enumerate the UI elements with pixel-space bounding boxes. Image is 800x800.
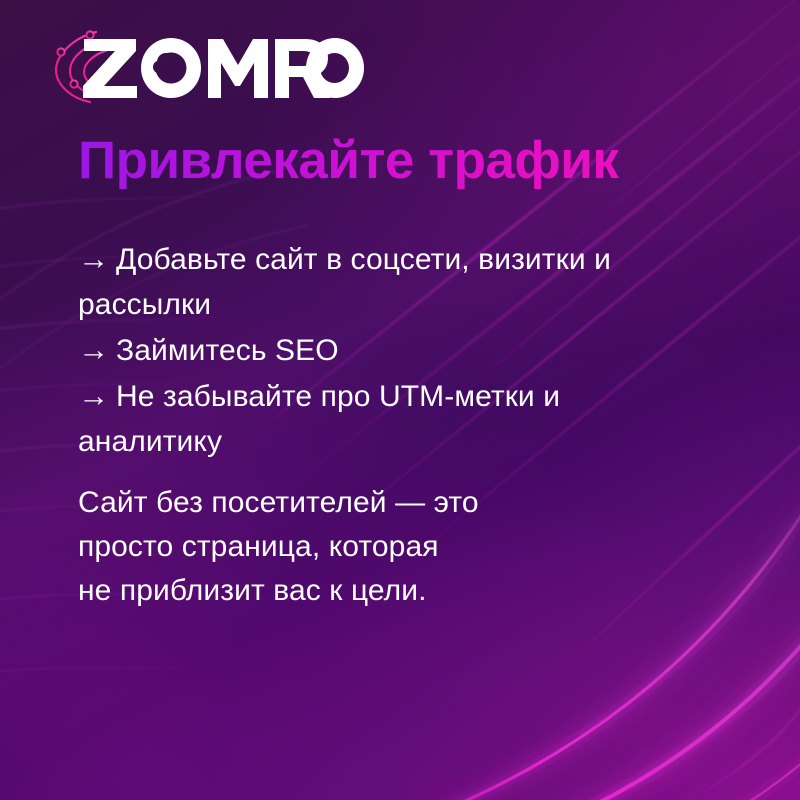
tips-list: →Добавьте сайт в соцсети, визитки и расс…: [78, 236, 698, 464]
list-item-label: Займитесь SEO: [116, 334, 339, 367]
promo-card: Привлекайте трафик →Добавьте сайт в соцс…: [0, 0, 800, 800]
closing-line: Сайт без посетителей — это: [78, 481, 698, 525]
list-item: →Не забывайте про UTM-метки и аналитику: [78, 373, 698, 464]
list-item: →Добавьте сайт в соцсети, визитки и расс…: [78, 236, 698, 327]
list-item-label: Добавьте сайт в соцсети, визитки и рассы…: [78, 243, 611, 321]
arrow-right-icon: →: [78, 236, 116, 281]
closing-line: не приблизит вас к цели.: [78, 569, 698, 613]
arrow-right-icon: →: [78, 327, 116, 372]
page-title: Привлекайте трафик: [78, 130, 728, 192]
closing-line: просто страница, которая: [78, 525, 698, 569]
list-item-label: Не забывайте про UTM-метки и аналитику: [78, 380, 560, 458]
brand-wordmark: [80, 37, 380, 99]
list-item: →Займитесь SEO: [78, 327, 698, 373]
brand-logo[interactable]: [50, 26, 380, 112]
arrow-right-icon: →: [78, 373, 116, 418]
closing-statement: Сайт без посетителей — это просто страни…: [78, 481, 698, 613]
